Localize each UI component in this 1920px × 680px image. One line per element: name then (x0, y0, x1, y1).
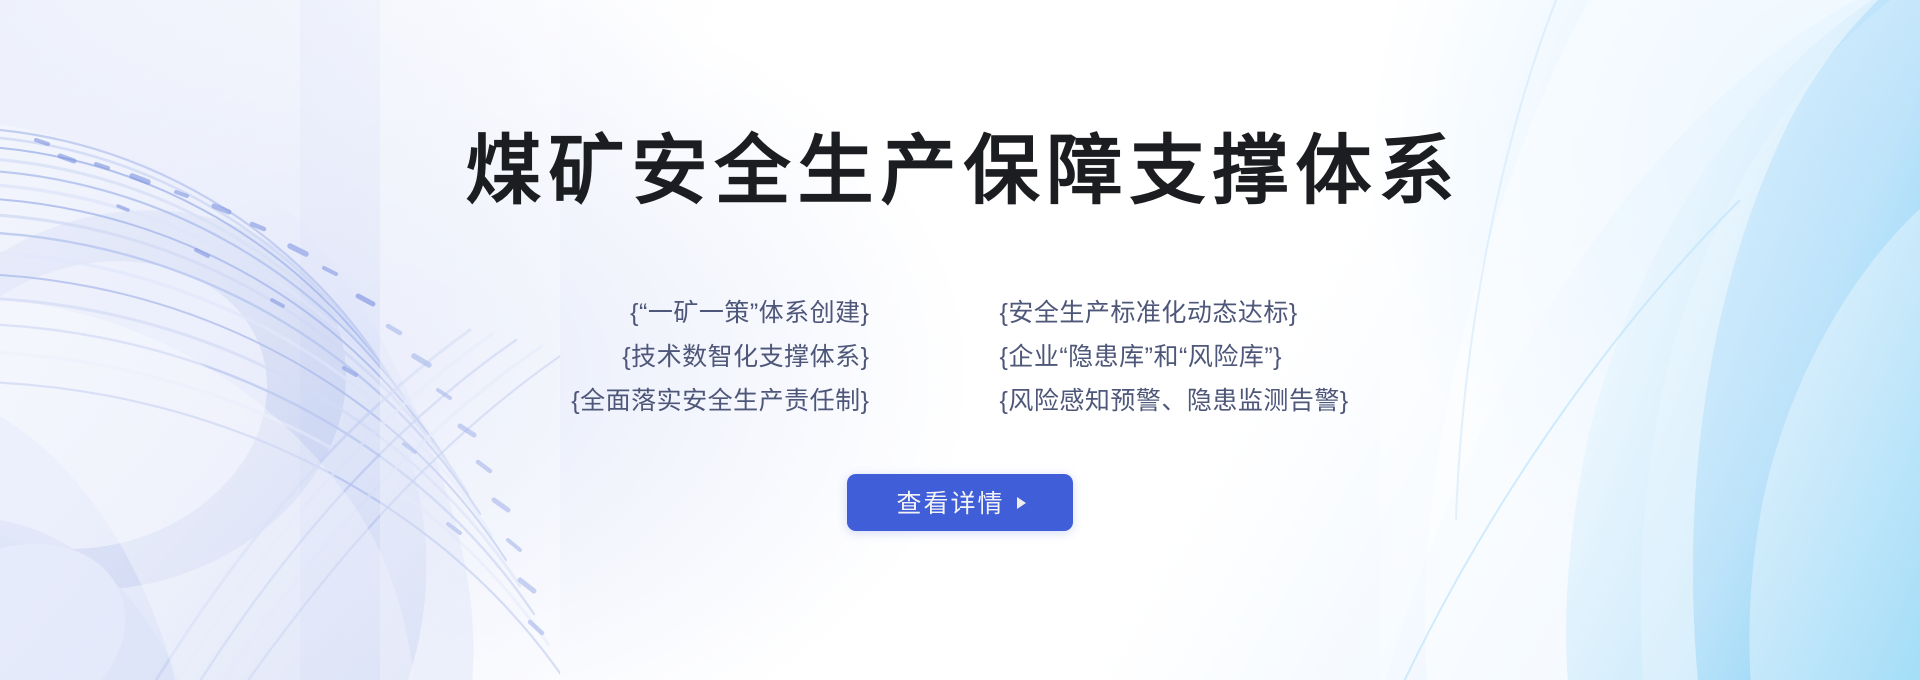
subtitle-column-left: {“一矿一策”体系创建} {技术数智化支撑体系} {全面落实安全生产责任制} (571, 297, 869, 418)
view-details-button[interactable]: 查看详情 (847, 474, 1073, 531)
subtitle-item: {“一矿一策”体系创建} (571, 297, 869, 330)
page-title: 煤矿安全生产保障支撑体系 (459, 132, 1462, 212)
hero-banner: 煤矿安全生产保障支撑体系 {“一矿一策”体系创建} {技术数智化支撑体系} {全… (0, 0, 1920, 680)
subtitle-item: {风险感知预警、隐患监测告警} (1000, 385, 1349, 418)
subtitle-item: {企业“隐患库”和“风险库”} (1000, 341, 1349, 374)
view-details-label: 查看详情 (894, 484, 1004, 520)
subtitle-item: {安全生产标准化动态达标} (1000, 297, 1349, 330)
cta-container: 查看详情 (847, 474, 1073, 531)
subtitle-columns: {“一矿一策”体系创建} {技术数智化支撑体系} {全面落实安全生产责任制} {… (571, 297, 1348, 418)
subtitle-item: {全面落实安全生产责任制} (571, 385, 869, 418)
subtitle-item: {技术数智化支撑体系} (571, 341, 869, 374)
subtitle-column-right: {安全生产标准化动态达标} {企业“隐患库”和“风险库”} {风险感知预警、隐患… (1000, 297, 1349, 418)
play-arrow-icon (1017, 497, 1026, 509)
banner-content: 煤矿安全生产保障支撑体系 {“一矿一策”体系创建} {技术数智化支撑体系} {全… (0, 0, 1920, 680)
